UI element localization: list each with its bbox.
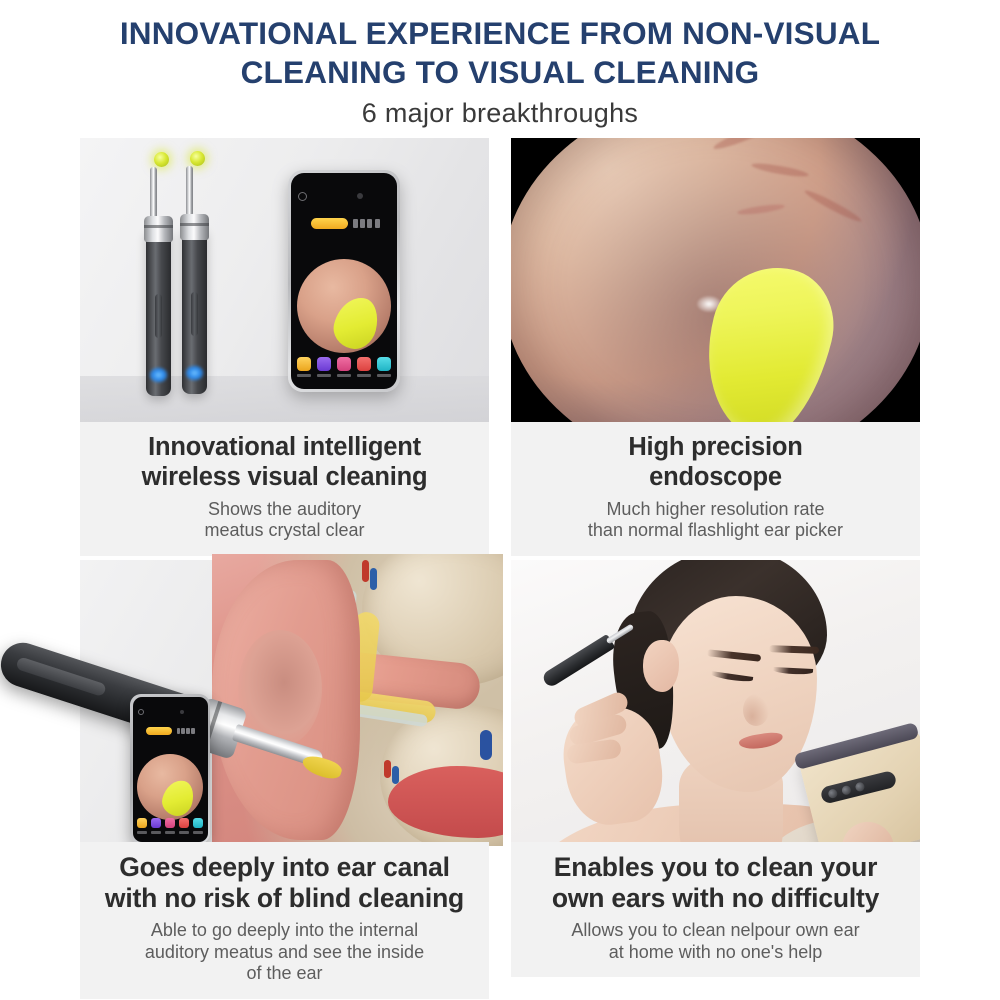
toolbar-item[interactable] <box>337 357 351 377</box>
toolbar-item[interactable] <box>137 818 147 834</box>
front-camera-icon <box>357 193 363 199</box>
product-photo-pens-and-phone <box>80 138 489 422</box>
pen-tip-glow-icon <box>190 151 205 166</box>
settings-icon[interactable] <box>138 709 144 715</box>
pen-needle <box>150 167 157 219</box>
product-photo-woman-using-device <box>511 560 920 842</box>
ear-anatomy-diagram <box>212 554 503 846</box>
ear-cleaning-pen-left <box>146 230 171 396</box>
toolbar-item[interactable] <box>151 818 161 834</box>
toolbar-item[interactable] <box>377 357 391 377</box>
toolbar-item[interactable] <box>179 818 189 834</box>
settings-icon[interactable] <box>298 192 307 201</box>
product-photo-endoscope-view <box>511 138 920 422</box>
panel-caption: Innovational intelligent wireless visual… <box>80 422 489 556</box>
panel-caption: Goes deeply into ear canal with no risk … <box>80 842 489 999</box>
feature-grid: Innovational intelligent wireless visual… <box>80 138 920 976</box>
page-subtitle: 6 major breakthroughs <box>0 98 1000 129</box>
smartphone-preview <box>288 170 400 392</box>
toolbar-item[interactable] <box>317 357 331 377</box>
feature-panel-wireless-cleaning: Innovational intelligent wireless visual… <box>80 138 489 556</box>
phone-screen <box>133 697 208 842</box>
feature-panel-high-precision-endoscope: High precision endoscope Much higher res… <box>511 138 920 556</box>
ear-cleaning-pen-right <box>182 228 207 394</box>
smartphone-preview <box>130 694 210 844</box>
ear-canal-live-view <box>137 754 203 820</box>
pen-led-indicator-icon <box>149 367 168 383</box>
toolbar-item[interactable] <box>193 818 203 834</box>
phone-screen <box>291 173 397 389</box>
pen-button <box>155 294 162 338</box>
model-ear <box>643 640 679 692</box>
level-indicator <box>353 219 380 228</box>
panel-subtitle: Allows you to clean nelpour own ear at h… <box>517 920 914 963</box>
panel-title: Enables you to clean your own ears with … <box>517 852 914 914</box>
product-photo-anatomy <box>80 560 489 842</box>
photo-floor-shadow <box>80 376 489 422</box>
scoop-tip-icon <box>159 777 197 819</box>
app-toolbar <box>133 818 208 834</box>
panel-subtitle: Much higher resolution rate than normal … <box>517 499 914 542</box>
panel-caption: High precision endoscope Much higher res… <box>511 422 920 556</box>
panel-title: High precision endoscope <box>517 433 914 493</box>
header: INNOVATIONAL EXPERIENCE FROM NON-VISUAL … <box>0 14 1000 129</box>
panel-subtitle: Shows the auditory meatus crystal clear <box>86 499 483 542</box>
panel-title: Innovational intelligent wireless visual… <box>86 433 483 493</box>
camera-module-icon <box>820 770 898 805</box>
product-infographic: INNOVATIONAL EXPERIENCE FROM NON-VISUAL … <box>0 0 1000 1000</box>
panel-title: Goes deeply into ear canal with no risk … <box>86 852 483 914</box>
toolbar-item[interactable] <box>165 818 175 834</box>
pen-collar <box>144 216 173 242</box>
front-camera-icon <box>180 710 184 714</box>
pen-tip-glow-icon <box>154 152 169 167</box>
brightness-slider[interactable] <box>311 218 348 229</box>
toolbar-item[interactable] <box>297 357 311 377</box>
pen-led-indicator-icon <box>185 365 204 381</box>
app-toolbar <box>291 357 397 377</box>
scoop-tip-icon <box>329 292 382 353</box>
pen-collar <box>180 214 209 240</box>
model-nose <box>743 694 769 726</box>
level-indicator <box>177 728 195 735</box>
page-title: INNOVATIONAL EXPERIENCE FROM NON-VISUAL … <box>0 14 1000 92</box>
pen-needle <box>186 166 193 216</box>
panel-caption: Enables you to clean your own ears with … <box>511 842 920 977</box>
ear-canal-live-view <box>297 259 391 353</box>
toolbar-item[interactable] <box>357 357 371 377</box>
brightness-slider[interactable] <box>146 727 172 735</box>
feature-panel-clean-own-ears: Enables you to clean your own ears with … <box>511 560 920 977</box>
feature-panel-deep-ear-canal: Goes deeply into ear canal with no risk … <box>80 560 489 999</box>
pen-button <box>191 292 198 336</box>
panel-subtitle: Able to go deeply into the internal audi… <box>86 920 483 985</box>
